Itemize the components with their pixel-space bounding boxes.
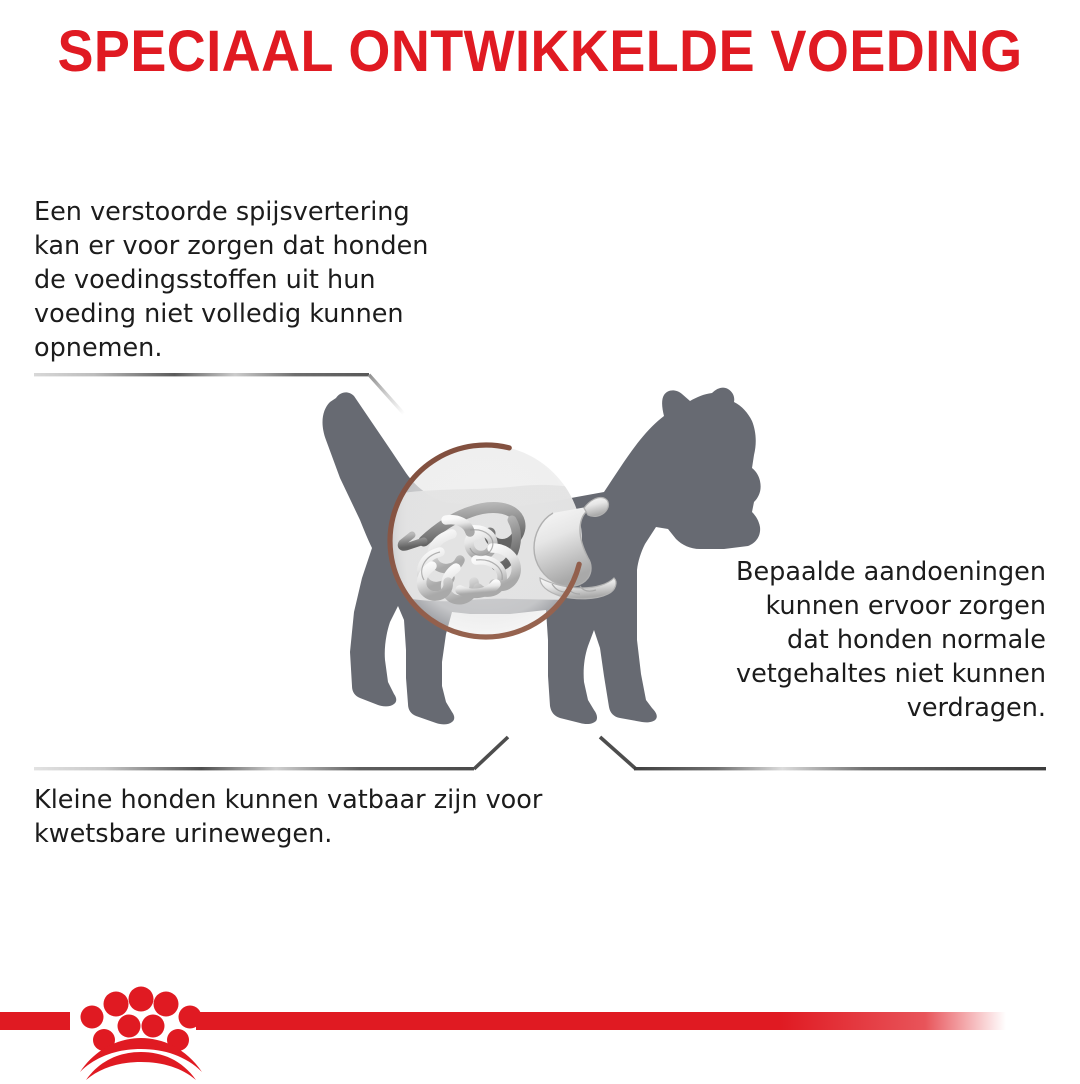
stomach-shape (534, 506, 592, 586)
illustration-artwork (0, 0, 1080, 1080)
abdomen-band (380, 485, 610, 601)
dog-silhouette (323, 388, 761, 725)
footer-artwork (0, 960, 1080, 1080)
pancreas-shape (540, 578, 616, 599)
leader-line-bottom-left (34, 737, 508, 770)
poster-canvas: SPECIAAL ONTWIKKELDE VOEDING (0, 0, 1080, 1080)
highlight-ring (370, 425, 603, 658)
page-title: SPECIAAL ONTWIKKELDE VOEDING (38, 22, 1042, 83)
digestive-organs (401, 497, 616, 599)
footer-bar-left (0, 1012, 70, 1030)
callout-fat-tolerance: Bepaalde aandoeningen kunnen ervoor zorg… (716, 556, 1046, 726)
highlight-disc (390, 445, 582, 637)
leader-line-bottom-right (600, 737, 1046, 770)
footer-brandbar (0, 960, 1080, 1080)
leader-line-top-left (34, 373, 404, 414)
royal-canin-crown-logo (80, 987, 202, 1081)
digestive-highlight (370, 425, 616, 658)
callout-digestion: Een verstoorde spijsvertering kan er voo… (34, 196, 454, 366)
callout-urinary: Kleine honden kunnen vatbaar zijn voor k… (34, 784, 594, 852)
footer-bar-right (196, 1012, 1006, 1030)
